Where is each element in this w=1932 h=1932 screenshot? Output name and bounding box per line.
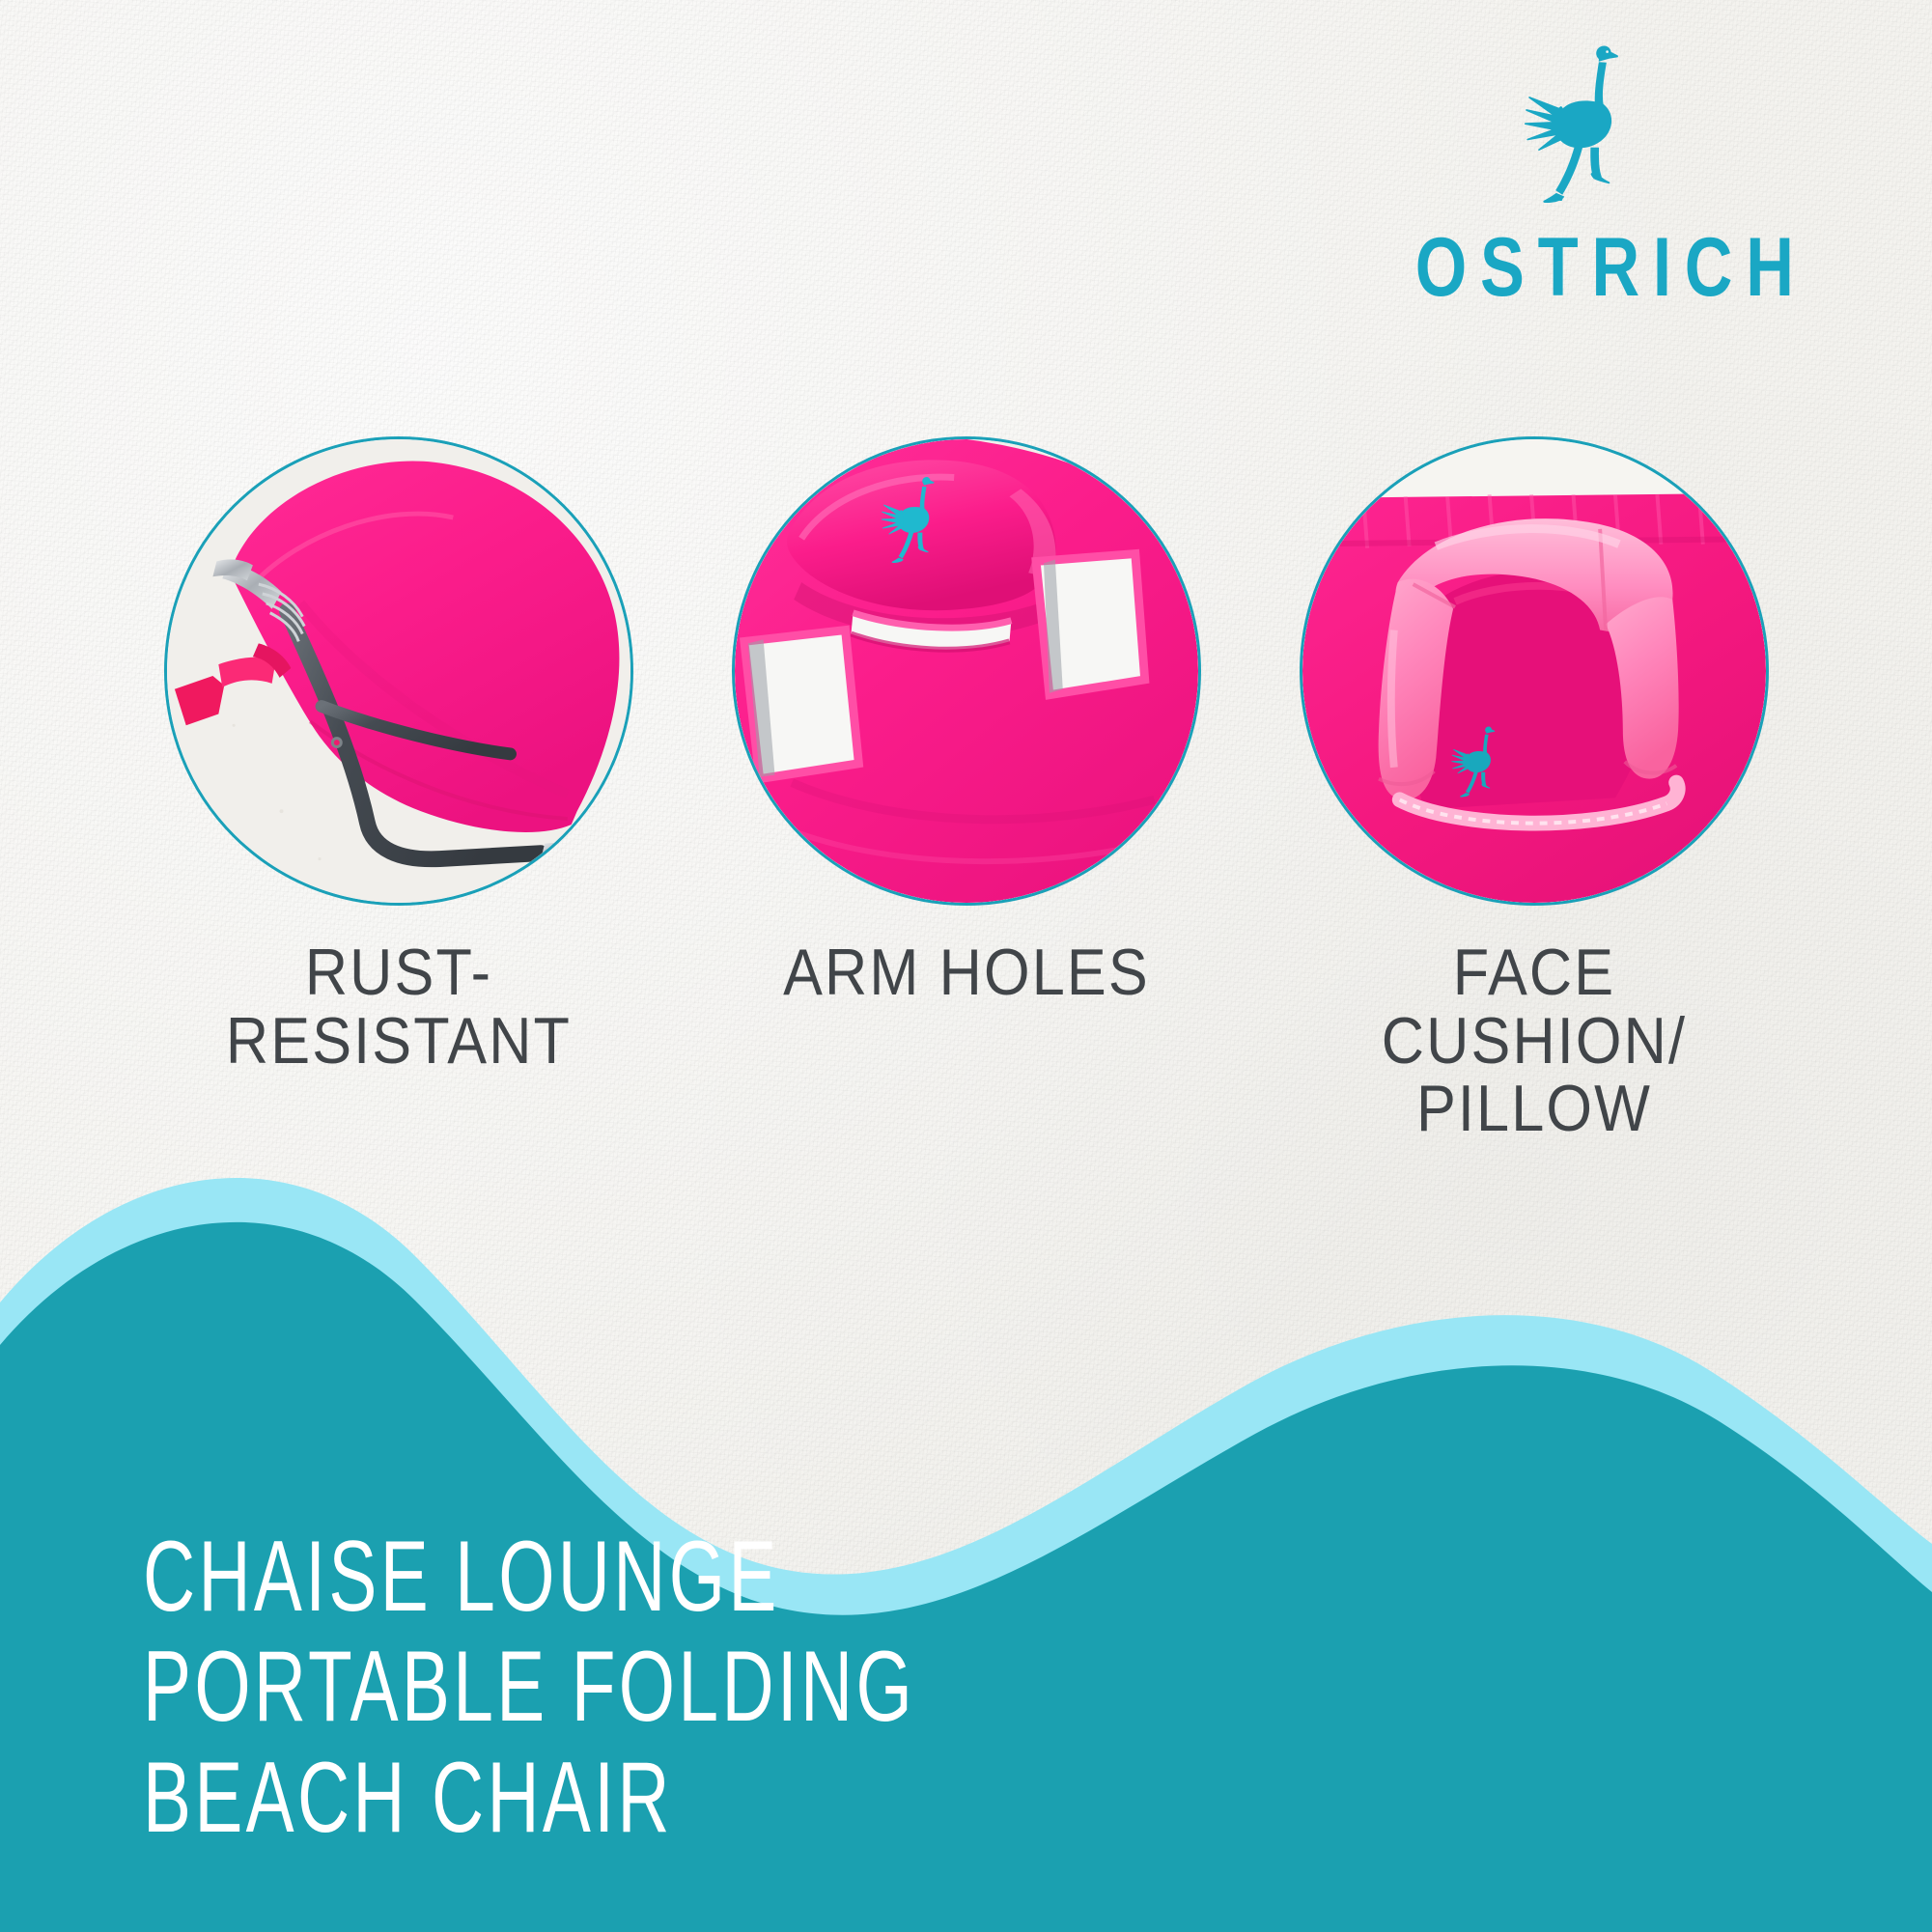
product-infographic: OSTRICH — [0, 0, 1932, 1932]
product-title: CHAISE LOUNGE PORTABLE FOLDING BEACH CHA… — [143, 1522, 1216, 1853]
feature-rust-resistant: RUST- RESISTANT — [162, 436, 635, 1143]
feature-image-face-cushion — [1300, 436, 1769, 906]
brand-wordmark: OSTRICH — [1402, 226, 1765, 309]
product-title-line-1: CHAISE LOUNGE — [143, 1522, 915, 1632]
product-title-line-2: PORTABLE FOLDING — [143, 1632, 915, 1742]
brand-logo: OSTRICH — [1357, 37, 1810, 309]
feature-caption-rust-resistant: RUST- RESISTANT — [225, 938, 571, 1075]
product-title-line-3: BEACH CHAIR — [143, 1743, 915, 1853]
feature-arm-holes: ARM HOLES — [730, 436, 1203, 1143]
feature-caption-face-cushion: FACE CUSHION/ PILLOW — [1321, 938, 1747, 1143]
feature-face-cushion: FACE CUSHION/ PILLOW — [1298, 436, 1771, 1143]
feature-image-arm-holes — [732, 436, 1201, 906]
rust-resistant-photo — [167, 439, 630, 903]
feature-row: RUST- RESISTANT — [0, 436, 1932, 1143]
feature-caption-arm-holes: ARM HOLES — [783, 938, 1150, 1007]
wave-footer: CHAISE LOUNGE PORTABLE FOLDING BEACH CHA… — [0, 1140, 1932, 1932]
ostrich-icon — [1511, 37, 1656, 220]
arm-holes-photo — [735, 439, 1198, 903]
feature-image-rust-resistant — [164, 436, 633, 906]
face-cushion-photo — [1302, 439, 1766, 903]
